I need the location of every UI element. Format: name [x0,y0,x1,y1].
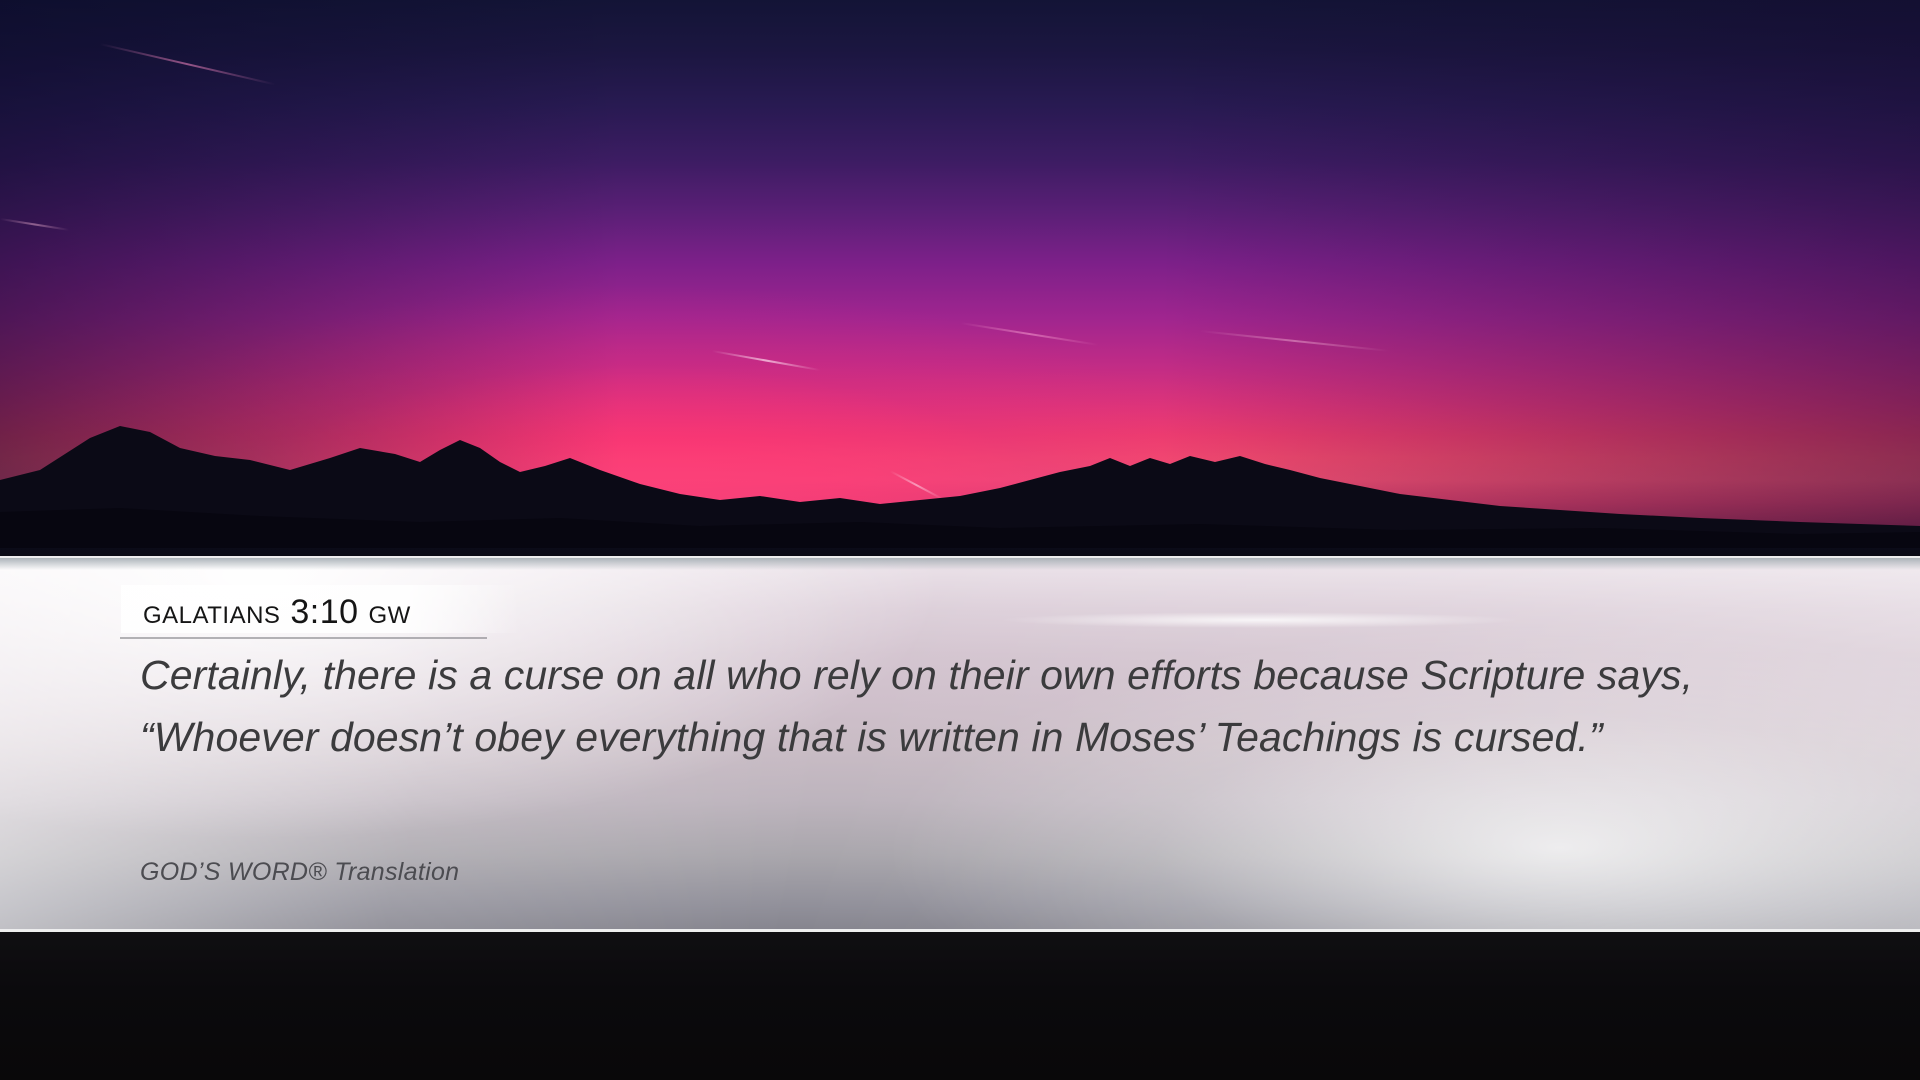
quote-card: Galatians 3:10 GW Certainly, there is a … [0,556,1920,932]
verse-reference: Galatians 3:10 GW [143,593,411,632]
verse-reference-group: Galatians 3:10 GW [143,593,411,632]
quote-card-content: Galatians 3:10 GW Certainly, there is a … [0,558,1920,932]
translation-credit: GOD’S WORD® Translation [140,858,459,887]
verse-reference-underline [120,637,487,639]
verse-text: Certainly, there is a curse on all who r… [140,644,1740,768]
wallpaper-canvas: Galatians 3:10 GW Certainly, there is a … [0,0,1920,1080]
foreground-shore [0,930,1920,1080]
mountain-silhouette [0,330,1920,570]
